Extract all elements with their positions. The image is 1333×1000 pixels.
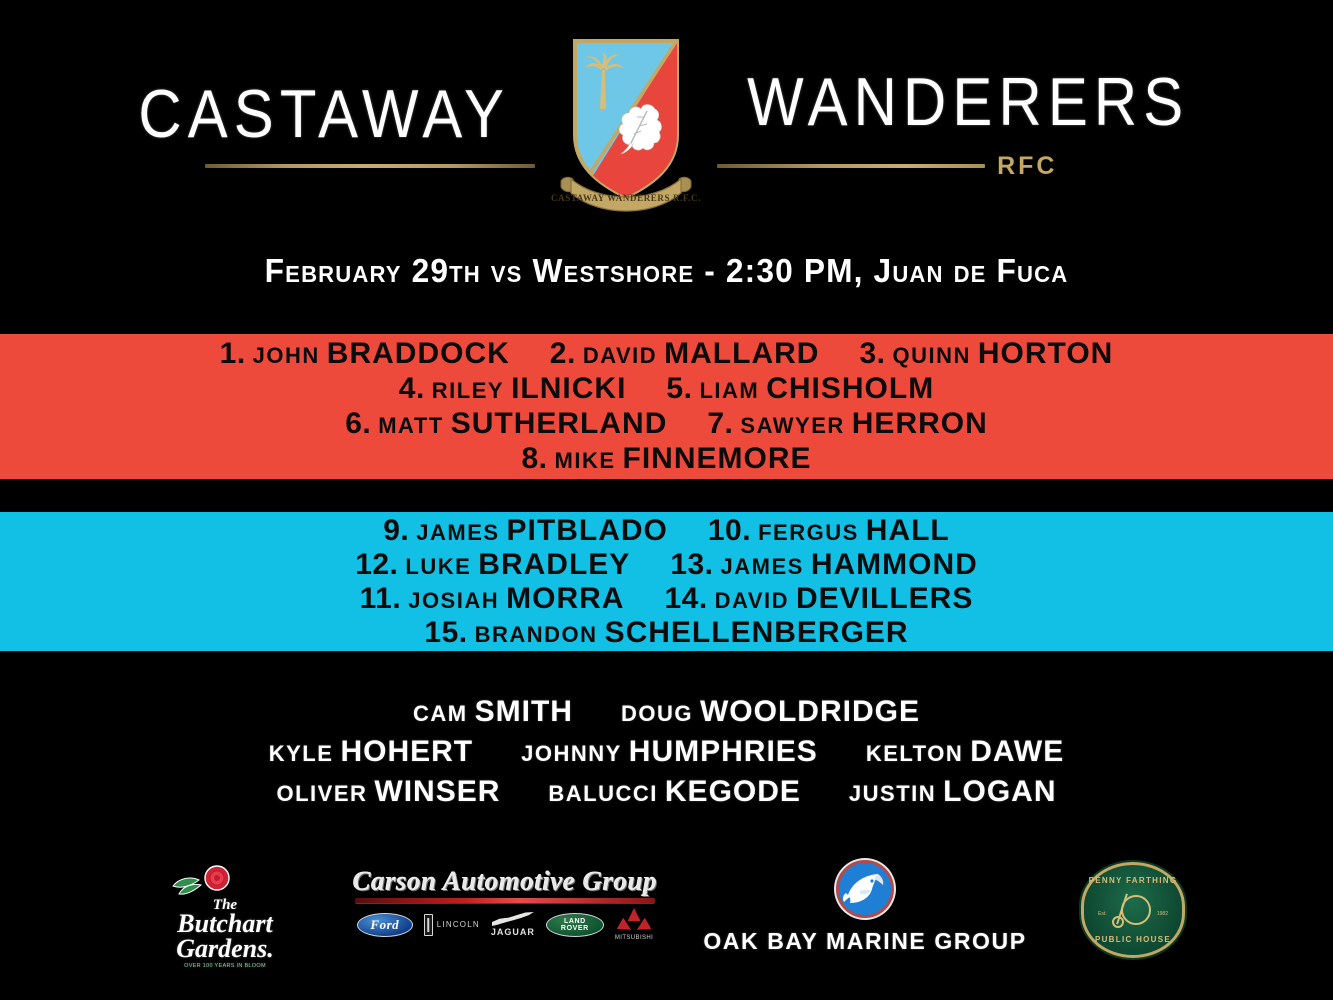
penny-est-left: Est. <box>1098 911 1107 917</box>
player-number: 9. <box>383 516 409 546</box>
roster-row: 9.jamesPITBLADO10.fergusHALL <box>383 516 950 546</box>
player-first-name: fergus <box>758 522 859 544</box>
club-suffix-rfc: RFC <box>997 152 1057 181</box>
roster-row: 11.josiahMORRA14.davidDEVILLERS <box>360 584 974 614</box>
player-first-name: liam <box>699 380 759 402</box>
forward-player: 4.rileyILNICKI <box>399 374 627 404</box>
player-last-name: WINSER <box>374 775 500 809</box>
player-first-name: oliver <box>276 781 367 807</box>
back-player: 12.lukeBRADLEY <box>355 550 630 580</box>
forwards-roster-band: 1.johnBRADDOCK2.davidMALLARD3.quinnHORTO… <box>0 334 1333 479</box>
rose-bloom <box>205 866 229 890</box>
player-last-name: HOHERT <box>340 735 473 769</box>
roster-row: 8.mikeFINNEMORE <box>521 444 811 474</box>
penny-farthing-bicycle-icon <box>1112 891 1154 929</box>
player-first-name: james <box>721 556 804 578</box>
player-first-name: quinn <box>893 345 971 367</box>
player-number: 7. <box>707 409 733 439</box>
forward-player: 7.sawyerHERRON <box>707 409 987 439</box>
club-name-left: CASTAWAY <box>138 80 510 148</box>
player-number: 11. <box>360 584 402 614</box>
sponsor-carson-automotive-group[interactable]: Carson Automotive Group Ford LINCOLN JAG… <box>345 866 665 941</box>
mitsubishi-logo: MITSUBISHI <box>615 908 653 941</box>
player-first-name: james <box>416 522 499 544</box>
mitsubishi-diamonds-icon <box>619 908 649 934</box>
player-first-name: balucci <box>548 781 658 807</box>
player-last-name: HUMPHRIES <box>629 735 818 769</box>
land-rover-line2: ROVER <box>561 925 589 932</box>
forward-player: 5.liamCHISHOLM <box>666 374 934 404</box>
back-player: 9.jamesPITBLADO <box>383 516 668 546</box>
back-player: 13.jamesHAMMOND <box>670 550 978 580</box>
reserve-row: camSMITHdougWOOLDRIDGE <box>413 695 920 729</box>
team-sheet-poster: CASTAWAY <box>0 0 1333 1000</box>
player-first-name: justin <box>849 781 936 807</box>
player-last-name: BRADDOCK <box>327 339 510 369</box>
butchart-line3: Gardens. <box>176 937 274 962</box>
player-first-name: kyle <box>269 741 334 767</box>
forward-player: 8.mikeFINNEMORE <box>521 444 811 474</box>
club-header: CASTAWAY <box>0 28 1333 220</box>
player-number: 12. <box>355 550 398 580</box>
rose-icon <box>165 864 285 898</box>
player-number: 4. <box>399 374 425 404</box>
player-first-name: doug <box>621 701 693 727</box>
player-first-name: luke <box>405 556 471 578</box>
carson-red-bar <box>355 898 655 903</box>
player-number: 15. <box>424 618 467 648</box>
player-number: 13. <box>670 550 713 580</box>
sponsor-strip: The Butchart Gardens. OVER 100 YEARS IN … <box>0 856 1333 986</box>
player-first-name: mike <box>555 450 616 472</box>
roster-row: 15.brandonSCHELLENBERGER <box>424 618 908 648</box>
backs-roster-band: 9.jamesPITBLADO10.fergusHALL12.lukeBRADL… <box>0 512 1333 651</box>
gold-divider-right <box>717 164 985 168</box>
jaguar-logo: JAGUAR <box>491 912 535 937</box>
player-last-name: DAWE <box>970 735 1064 769</box>
club-crest: CASTAWAY WANDERERS R.F.C. <box>551 31 701 217</box>
back-player: 10.fergusHALL <box>708 516 950 546</box>
player-last-name: KEGODE <box>665 775 801 809</box>
player-first-name: david <box>583 345 657 367</box>
player-first-name: kelton <box>866 741 963 767</box>
forward-player: 2.davidMALLARD <box>550 339 820 369</box>
player-last-name: MALLARD <box>664 339 819 369</box>
penny-est-right: 1982 <box>1157 911 1168 917</box>
land-rover-logo: LAND ROVER <box>546 913 604 937</box>
player-first-name: johnny <box>521 741 622 767</box>
player-last-name: SUTHERLAND <box>451 409 668 439</box>
match-subtitle: February 29th vs Westshore - 2:30 PM, Ju… <box>27 252 1307 290</box>
reserve-row: kyleHOHERTjohnnyHUMPHRIESkeltonDAWE <box>269 735 1064 769</box>
gold-divider-right-group: RFC <box>717 152 1057 181</box>
player-last-name: SMITH <box>475 695 573 729</box>
roster-row: 1.johnBRADDOCK2.davidMALLARD3.quinnHORTO… <box>220 339 1114 369</box>
player-number: 8. <box>521 444 547 474</box>
reserve-player: keltonDAWE <box>866 735 1064 769</box>
lincoln-emblem-icon <box>424 914 433 936</box>
player-last-name: DEVILLERS <box>796 584 973 614</box>
player-number: 6. <box>345 409 371 439</box>
player-number: 1. <box>220 339 246 369</box>
forward-player: 6.mattSUTHERLAND <box>345 409 667 439</box>
player-number: 10. <box>708 516 751 546</box>
sponsor-oak-bay-marine-group[interactable]: OAK BAY MARINE GROUP <box>705 860 1025 955</box>
forward-player: 1.johnBRADDOCK <box>220 339 510 369</box>
butchart-wordmark: The Butchart Gardens. OVER 100 YEARS IN … <box>176 898 274 969</box>
player-number: 14. <box>664 584 707 614</box>
reserve-player: kyleHOHERT <box>269 735 473 769</box>
player-first-name: sawyer <box>740 415 844 437</box>
reserve-player: oliverWINSER <box>276 775 500 809</box>
player-first-name: josiah <box>408 590 499 612</box>
player-first-name: riley <box>432 380 504 402</box>
oak-bay-badge <box>836 860 894 918</box>
player-first-name: david <box>715 590 789 612</box>
lincoln-logo: LINCOLN <box>424 914 480 936</box>
penny-farthing-badge: PENNY FARTHING Est. 1982 PUBLIC HOUSE <box>1081 862 1185 958</box>
player-last-name: PITBLADO <box>507 516 668 546</box>
player-last-name: HALL <box>866 516 950 546</box>
club-name-right: WANDERERS <box>748 68 1190 136</box>
gold-divider-left <box>205 164 535 168</box>
rose-leaves <box>173 878 201 894</box>
player-last-name: HERRON <box>852 409 988 439</box>
mitsubishi-label: MITSUBISHI <box>615 935 653 941</box>
player-first-name: cam <box>413 701 468 727</box>
salmon-fish-icon <box>842 869 888 909</box>
back-player: 14.davidDEVILLERS <box>664 584 973 614</box>
player-number: 5. <box>666 374 692 404</box>
player-last-name: LOGAN <box>943 775 1056 809</box>
carson-wordmark: Carson Automotive Group <box>353 866 658 897</box>
penny-top-text: PENNY FARTHING <box>1084 876 1182 885</box>
penny-bottom-text: PUBLIC HOUSE <box>1084 935 1182 944</box>
player-last-name: FINNEMORE <box>623 444 812 474</box>
player-last-name: CHISHOLM <box>766 374 934 404</box>
sponsor-butchart-gardens[interactable]: The Butchart Gardens. OVER 100 YEARS IN … <box>160 864 290 969</box>
player-first-name: matt <box>378 415 443 437</box>
reserve-player: camSMITH <box>413 695 573 729</box>
player-last-name: ILNICKI <box>511 374 626 404</box>
crest-svg: CASTAWAY WANDERERS R.F.C. <box>551 31 701 217</box>
jaguar-leaper-icon <box>492 912 534 926</box>
player-last-name: MORRA <box>506 584 624 614</box>
player-last-name: HORTON <box>978 339 1113 369</box>
forward-player: 3.quinnHORTON <box>859 339 1113 369</box>
roster-row: 6.mattSUTHERLAND7.sawyerHERRON <box>345 409 988 439</box>
reserves-list: camSMITHdougWOOLDRIDGEkyleHOHERTjohnnyHU… <box>0 692 1333 812</box>
ford-logo: Ford <box>357 913 413 937</box>
sponsor-penny-farthing-public-house[interactable]: PENNY FARTHING Est. 1982 PUBLIC HOUSE <box>1068 862 1198 958</box>
lincoln-label: LINCOLN <box>437 920 480 929</box>
land-rover-line1: LAND <box>564 918 586 925</box>
reserve-player: johnnyHUMPHRIES <box>521 735 818 769</box>
back-player: 15.brandonSCHELLENBERGER <box>424 618 908 648</box>
player-number: 2. <box>550 339 576 369</box>
roster-row: 4.rileyILNICKI5.liamCHISHOLM <box>399 374 934 404</box>
jaguar-label: JAGUAR <box>491 927 535 937</box>
back-player: 11.josiahMORRA <box>360 584 625 614</box>
wordmark-right-group: WANDERERS RFC <box>717 68 1220 181</box>
butchart-tagline: OVER 100 YEARS IN BLOOM <box>176 964 274 969</box>
player-last-name: SCHELLENBERGER <box>605 618 909 648</box>
player-first-name: brandon <box>475 624 598 646</box>
reserve-player: balucciKEGODE <box>548 775 801 809</box>
player-number: 3. <box>859 339 885 369</box>
oak-bay-wordmark: OAK BAY MARINE GROUP <box>703 928 1026 955</box>
ford-label: Ford <box>370 917 399 933</box>
reserve-player: dougWOOLDRIDGE <box>621 695 920 729</box>
reserve-row: oliverWINSERbalucciKEGODEjustinLOGAN <box>276 775 1056 809</box>
roster-row: 12.lukeBRADLEY13.jamesHAMMOND <box>355 550 978 580</box>
player-last-name: BRADLEY <box>478 550 630 580</box>
player-last-name: HAMMOND <box>811 550 978 580</box>
player-first-name: john <box>253 345 320 367</box>
carson-brand-badges: Ford LINCOLN JAGUAR LAND ROVER <box>357 908 653 941</box>
crest-banner-text: CASTAWAY WANDERERS R.F.C. <box>551 193 701 203</box>
player-last-name: WOOLDRIDGE <box>700 695 920 729</box>
wordmark-left-group: CASTAWAY <box>113 80 535 168</box>
reserve-player: justinLOGAN <box>849 775 1057 809</box>
